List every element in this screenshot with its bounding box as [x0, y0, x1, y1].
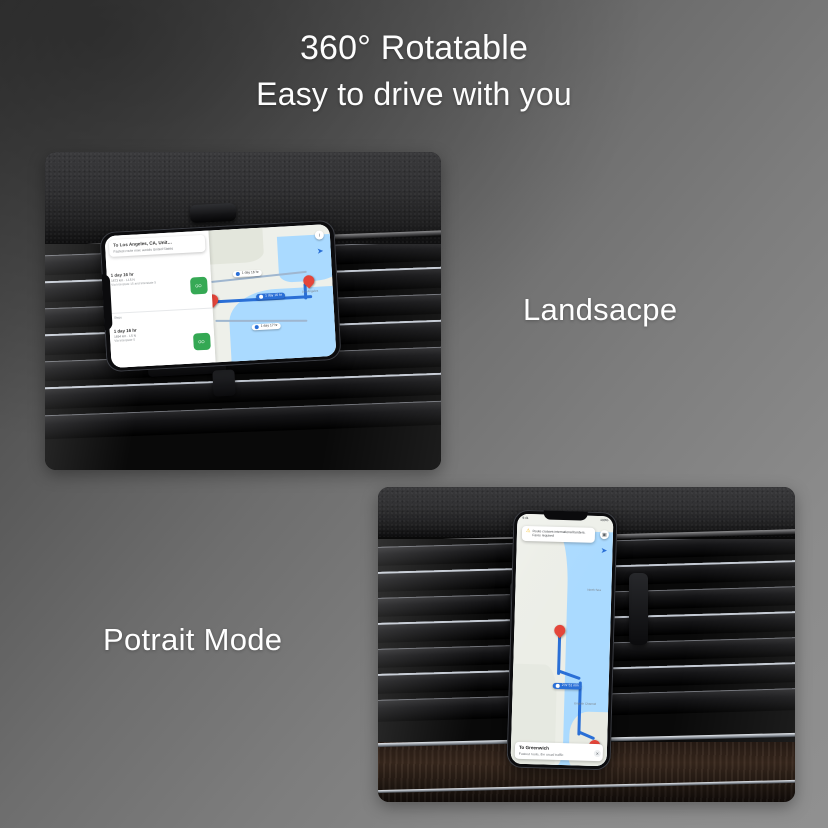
landscape-mount-photo: 1 day 16 hr 1 day 16 hr 1 day 17 hr Los … [45, 152, 441, 470]
close-icon[interactable]: ✕ [594, 750, 601, 757]
caption-portrait: Potrait Mode [103, 622, 282, 658]
headline-block: 360° Rotatable Easy to drive with you [0, 28, 828, 114]
destination-card[interactable]: To Greenwich Fastest route, the usual tr… [515, 742, 603, 762]
headline-line-1: 360° Rotatable [0, 28, 828, 68]
phone-notch [544, 510, 588, 520]
warning-icon: ⚠ [526, 529, 531, 534]
go-button[interactable]: GO [192, 333, 210, 351]
route-badge-dot [255, 325, 259, 329]
status-time: 9:41 [522, 516, 528, 520]
route-badge-selected[interactable]: 2 hr 51 min [553, 683, 582, 690]
navigate-icon[interactable]: ➤ [315, 246, 324, 255]
phone-screen-portrait: 9:41 100% [511, 514, 614, 767]
steps-link[interactable]: Steps [114, 315, 122, 319]
status-battery: 100% [600, 518, 608, 522]
mount-top-clip [190, 203, 237, 223]
border-warning-text: Route crosses international borders. Far… [532, 529, 591, 540]
directions-panel: To Los Angeles, CA, Unit… Fastest route … [105, 231, 215, 368]
phone-landscape: 1 day 16 hr 1 day 16 hr 1 day 17 hr Los … [99, 220, 341, 373]
navigate-icon[interactable]: ➤ [599, 546, 608, 555]
caption-landscape: Landsacpe [523, 292, 677, 328]
destination-card[interactable]: To Los Angeles, CA, Unit… Fastest route … [109, 235, 205, 257]
route-badge-dot [259, 295, 263, 299]
product-marketing-image: 360° Rotatable Easy to drive with you La… [0, 0, 828, 828]
mount-pivot-ball [212, 369, 235, 396]
route-badge-dot [236, 272, 240, 276]
phone-portrait: 9:41 100% [506, 510, 617, 771]
map-region [200, 228, 264, 265]
destination-subtitle: Fastest route, the usual traffic [519, 751, 599, 758]
phone-screen-landscape: 1 day 16 hr 1 day 16 hr 1 day 17 hr Los … [105, 224, 337, 368]
border-warning-banner[interactable]: ⚠ Route crosses international borders. F… [522, 526, 595, 543]
map-label-channel: English Channel [574, 701, 596, 706]
route-option-row[interactable]: 1 day 16 hr 1694 km · I-5 N Via Intersta… [109, 320, 215, 368]
route-option-row[interactable]: 1 day 16 hr 1673 km · I-15 N Via Interst… [106, 265, 212, 315]
portrait-mount-photo: 9:41 100% [378, 487, 795, 802]
maps-app-portrait: 9:41 100% [511, 514, 614, 767]
route-badge-dot [556, 684, 560, 688]
headline-line-2: Easy to drive with you [0, 74, 828, 114]
maps-app-landscape: 1 day 16 hr 1 day 16 hr 1 day 17 hr Los … [105, 224, 337, 368]
go-button[interactable]: GO [189, 277, 207, 295]
mount-right-arm [629, 573, 648, 645]
map-label-sea: North Sea [587, 588, 601, 592]
map-route-alt [215, 320, 307, 322]
